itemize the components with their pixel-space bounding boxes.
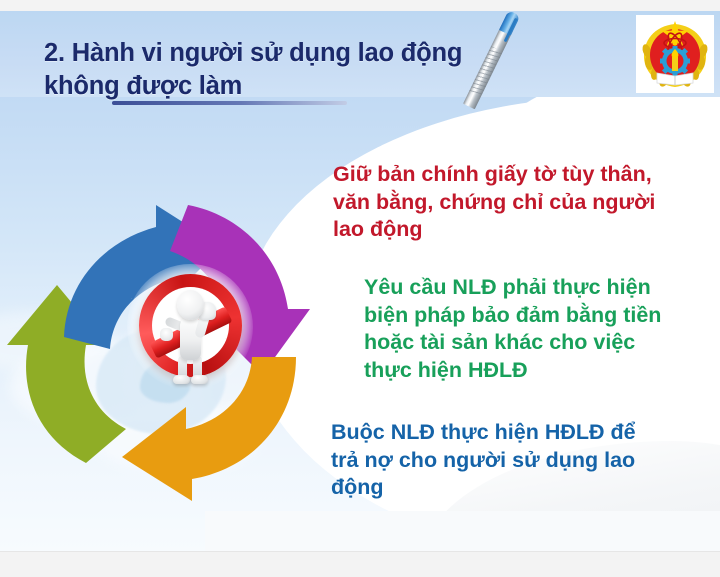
slide-title: 2. Hành vi người sử dụng lao động không … [44,37,514,103]
watermark-speckle: · [225,336,227,342]
prohibition-sign-with-figure-icon: · · [125,262,255,397]
watermark-speckle: · [131,296,133,302]
content-item-3-text: Buộc NLĐ thực hiện HĐLĐ để trả nợ cho ng… [331,419,691,502]
figure-right-foot [191,375,208,384]
presentation-slide: 2. Hành vi người sử dụng lao động không … [0,11,720,551]
title-underline [112,101,347,105]
figure-head [177,290,204,320]
cycle-arrow-diagram: · · [0,107,380,527]
viewer-bottom-band [0,551,720,577]
slide-viewer: 2. Hành vi người sử dụng lao động không … [0,0,720,577]
vietnam-trade-union-emblem-icon [636,15,714,93]
figure-left-foot [173,375,190,384]
content-item-1-text: Giữ bản chính giấy tờ tùy thân, văn bằng… [333,161,689,244]
white-content-panel [430,71,720,471]
figure-left-hand [160,328,173,341]
content-item-2-text: Yêu cầu NLĐ phải thực hiện biện pháp bảo… [364,274,694,384]
viewer-top-band [0,0,720,11]
